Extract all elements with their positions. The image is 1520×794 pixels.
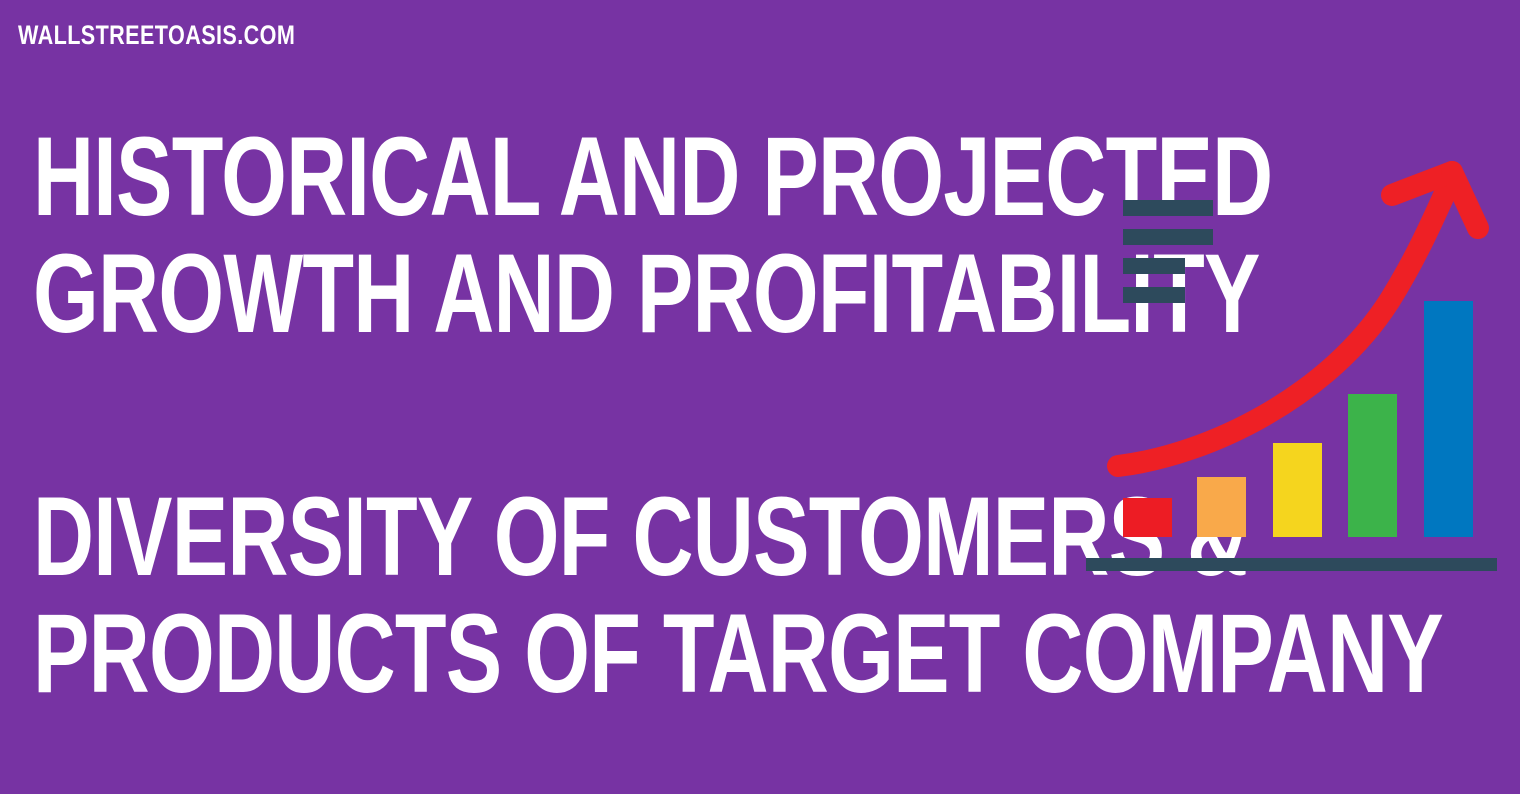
growth-chart-svg [1080, 150, 1520, 590]
headline-secondary-line-2: PRODUCTS OF TARGET COMPANY [33, 595, 1443, 712]
bar-5-blue [1424, 301, 1473, 537]
legend-line-2 [1123, 229, 1213, 245]
brand-watermark: WALLSTREETOASIS.COM [18, 22, 295, 49]
chart-bars [1123, 301, 1473, 537]
growth-arrow-curve [1118, 182, 1450, 466]
chart-baseline [1086, 558, 1497, 571]
legend-line-1 [1123, 200, 1213, 216]
bar-3-yellow [1273, 443, 1322, 537]
bar-1-red [1123, 498, 1172, 537]
legend-placeholder-lines [1123, 200, 1213, 303]
bar-4-green [1348, 394, 1397, 537]
growth-chart-illustration [1080, 150, 1520, 590]
legend-line-4 [1123, 287, 1185, 303]
legend-line-3 [1123, 258, 1185, 274]
growth-arrow-head-right [1452, 172, 1478, 228]
slide-canvas: WALLSTREETOASIS.COM HISTORICAL AND PROJE… [0, 0, 1520, 794]
bar-2-orange [1197, 477, 1246, 537]
